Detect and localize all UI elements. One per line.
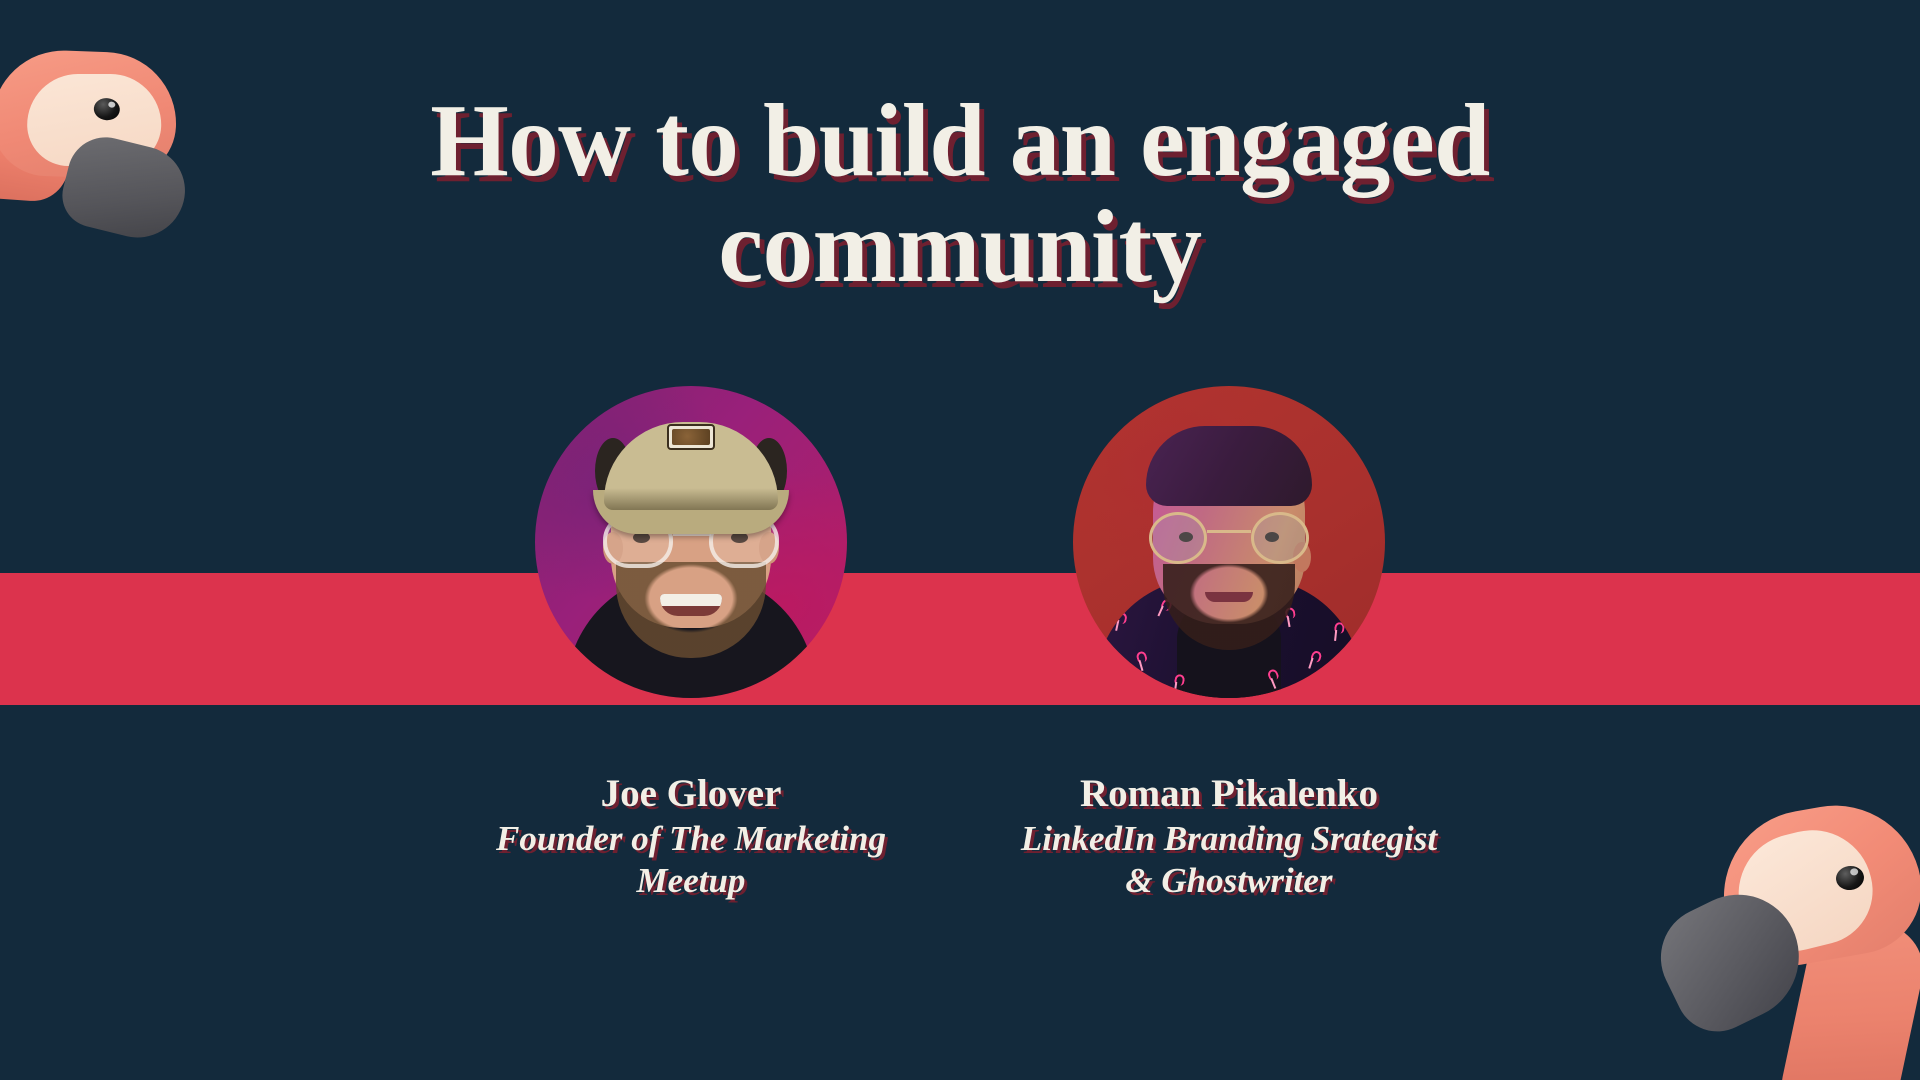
speaker-role-joe-glover: Founder of The Marketing Meetup bbox=[496, 818, 886, 902]
joe-teeth bbox=[660, 594, 722, 606]
joe-cap-patch bbox=[667, 424, 715, 450]
speaker-role-line-2: & Ghostwriter bbox=[1021, 860, 1437, 902]
avatar-joe-glover bbox=[535, 386, 847, 698]
title-line-2: community bbox=[29, 194, 1891, 300]
speaker-card-joe-glover: Joe Glover Founder of The Marketing Meet… bbox=[481, 386, 901, 902]
speaker-role-line-1: LinkedIn Branding Srategist bbox=[1021, 818, 1437, 860]
joe-cap bbox=[604, 422, 778, 510]
flamingo-print-icon bbox=[1330, 621, 1343, 642]
avatar-roman-pikalenko bbox=[1073, 386, 1385, 698]
page-title: How to build an engaged community bbox=[0, 88, 1920, 300]
speaker-role-roman-pikalenko: LinkedIn Branding Srategist & Ghostwrite… bbox=[1021, 818, 1437, 902]
speaker-card-roman-pikalenko: Roman Pikalenko LinkedIn Branding Srateg… bbox=[1019, 386, 1439, 902]
roman-mouth bbox=[1205, 592, 1253, 602]
flamingo-plush-bottom-right-icon bbox=[1668, 802, 1920, 1080]
speaker-role-line-1: Founder of The Marketing bbox=[496, 818, 886, 860]
speaker-name-joe-glover: Joe Glover bbox=[601, 772, 782, 816]
title-line-1: How to build an engaged bbox=[29, 88, 1891, 194]
flamingo-print-icon bbox=[1304, 649, 1321, 671]
joe-mouth bbox=[660, 594, 722, 616]
roman-glasses-bridge bbox=[1207, 530, 1251, 533]
speaker-role-line-2: Meetup bbox=[496, 860, 886, 902]
roman-glasses bbox=[1149, 512, 1309, 564]
flamingo-print-icon bbox=[1111, 611, 1126, 633]
roman-lens-left bbox=[1149, 512, 1207, 564]
flamingo-print-icon bbox=[1132, 651, 1148, 673]
speaker-name-roman-pikalenko: Roman Pikalenko bbox=[1080, 772, 1378, 816]
roman-lens-right bbox=[1251, 512, 1309, 564]
flamingo-plush-top-left-icon bbox=[0, 0, 214, 287]
roman-hair bbox=[1146, 426, 1312, 506]
speaker-list: Joe Glover Founder of The Marketing Meet… bbox=[0, 386, 1920, 902]
